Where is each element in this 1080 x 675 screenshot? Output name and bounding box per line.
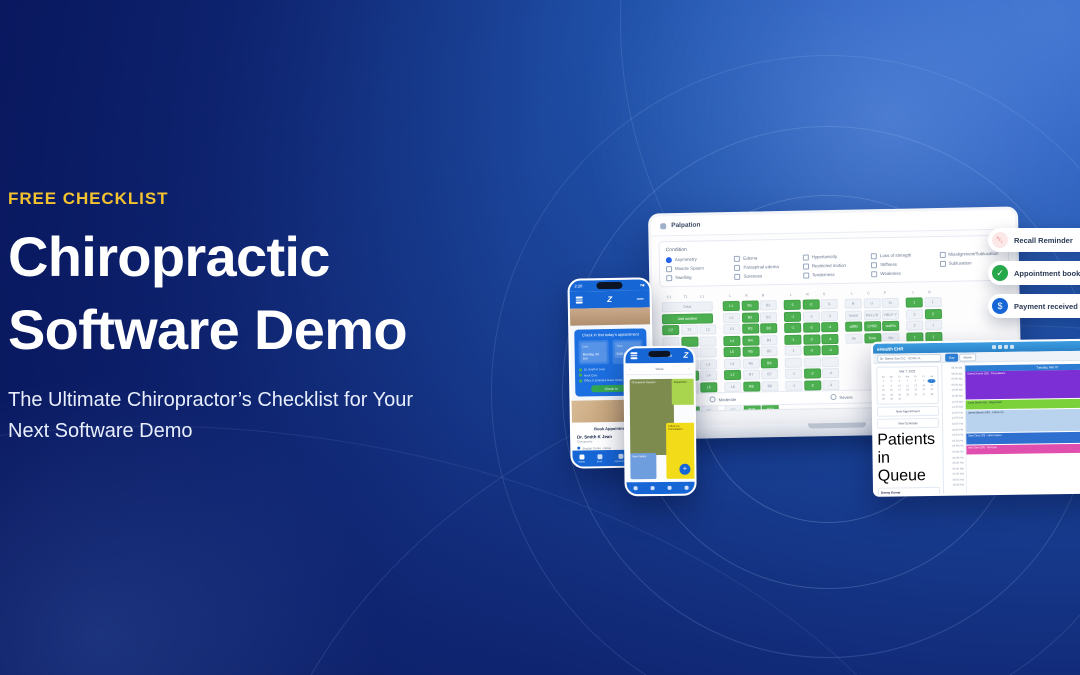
condition-card: Condition AsymmetryEdemaHypertonicityLos…: [659, 235, 1010, 287]
grid-cell[interactable]: -4: [822, 368, 839, 378]
calendar-range-label[interactable]: Week: [655, 366, 663, 370]
grid-cell[interactable]: Kk: [845, 333, 862, 343]
grid-cell[interactable]: R6: [742, 358, 759, 368]
calendar-day-cell[interactable]: 7: [928, 379, 936, 383]
dynamic-island: [596, 282, 622, 289]
grid-cell[interactable]: \1: [821, 299, 838, 309]
clear-link[interactable]: Clear: [662, 301, 713, 312]
sidebar-action-buttons: New AppointmentNew Schedule: [877, 406, 939, 429]
schedule-time-column: 08:00 AM08:30 AM09:00 AM09:30 AM10:00 AM…: [942, 363, 967, 497]
notification-icon[interactable]: [637, 298, 644, 299]
condition-option-label: Muscle Spasm: [675, 266, 704, 272]
checkbox-icon[interactable]: [940, 260, 946, 266]
ehr-app-name: eHealth EHR: [877, 346, 903, 351]
mini-calendar-days: SuMoTuWeThFrSa12345678910111213141516171…: [879, 374, 935, 401]
eyebrow-label: FREE CHECKLIST: [8, 190, 528, 207]
grid-cell[interactable]: atRN: [845, 321, 862, 331]
notification-pill[interactable]: ✓Appointment booked: [988, 261, 1080, 285]
calendar-day-cell[interactable]: 23: [888, 393, 896, 397]
ehr-toolbar-icons: [992, 345, 1014, 349]
condition-option[interactable]: Weakness: [871, 270, 934, 277]
grid-header-cell: R: [800, 290, 815, 298]
grid-row: -1-2\1: [784, 299, 838, 310]
brand-logo: Z: [607, 295, 612, 304]
grid-cell[interactable]: -1: [785, 369, 802, 379]
date-value: Monday, 09 Jun: [581, 350, 607, 362]
sidebar-action-button[interactable]: New Schedule: [877, 418, 939, 429]
grid-header-row: C1T1L1: [661, 292, 715, 301]
checkin-date-field: Date Monday, 09 Jun: [578, 340, 608, 365]
grid-header-cell: C1: [661, 293, 676, 301]
grid-cell[interactable]: watRn: [882, 321, 899, 331]
tablet-mockup: eHealth EHR New Patient Dr. Danny Sue D.…: [871, 338, 1080, 497]
bottom-nav-item[interactable]: Home: [578, 454, 585, 463]
grid-cell[interactable]: L5: [700, 382, 717, 392]
sidebar-action-button[interactable]: New Appointment: [877, 406, 939, 417]
grid-cell[interactable]: R3: [742, 323, 759, 333]
grid-header-cell: L: [722, 291, 737, 299]
calendar-day-cell[interactable]: 2: [888, 379, 896, 383]
grid-row: L5R5B5: [724, 346, 778, 357]
schedule-appointment-block[interactable]: Mia Chen (29) - Re-Eval: [966, 443, 1080, 454]
grid-cell[interactable]: -1: [785, 346, 802, 356]
phone-status-bar: 2:20 ▾■: [569, 279, 649, 291]
condition-option[interactable]: Loss of strength: [871, 252, 934, 259]
calendar-day-cell[interactable]: 28: [928, 392, 936, 396]
calendar-day-cell[interactable]: 8: [880, 384, 888, 388]
bell-icon-tablet[interactable]: [1010, 345, 1014, 349]
weekday-header: We: [904, 375, 912, 379]
checkin-bullet-label: Office 3, Emirates Road, Dubai: [584, 378, 623, 383]
check-icon: [579, 368, 582, 371]
grid-row: -1-2-4: [785, 379, 839, 390]
notification-label: Recall Reminder: [1014, 236, 1073, 245]
grid-cell[interactable]: B4: [760, 335, 777, 345]
condition-option[interactable]: Soreness: [735, 272, 798, 279]
grid-cell[interactable]: LPSR: [864, 321, 881, 331]
calendar-day-cell[interactable]: 12: [912, 384, 920, 388]
condition-option-label: Swelling: [675, 275, 691, 280]
grid-cell[interactable]: -1: [784, 334, 801, 344]
grid-header-row: 1R: [905, 287, 941, 296]
phone2-bottom-nav: [627, 482, 695, 495]
checkbox-icon[interactable]: [803, 272, 809, 278]
schedule-column: Tuesday, Mar 07 Danny Kumar (28) - Consu…: [965, 360, 1080, 497]
grid-cell[interactable]: -2: [804, 380, 821, 390]
grid-cell[interactable]: [785, 357, 802, 367]
condition-option[interactable]: Hypertonicity: [803, 253, 865, 260]
dollar-icon: $: [992, 298, 1008, 314]
subheadline-line-2: Next Software Demo: [8, 416, 528, 447]
grid-cell[interactable]: -1: [785, 380, 802, 390]
checkin-bullet-label: Neck Care: [584, 373, 597, 377]
grid-cell[interactable]: C2: [662, 325, 679, 335]
grid-cell[interactable]: -1: [784, 300, 801, 310]
grid-cell[interactable]: L2: [699, 324, 716, 334]
ehr-main-area: Mar 7, 2023 SuMoTuWeThFrSa12345678910111…: [873, 360, 1080, 497]
phone-hero-image: [570, 307, 650, 325]
phone-screen-calendar: Jun 09, 2025 Z ‹ Week › Chiropractic Ses…: [623, 346, 696, 497]
check-icon: [579, 379, 582, 382]
grid-cell[interactable]: L5: [724, 347, 741, 357]
phone-mockup-calendar: Jun 09, 2025 Z ‹ Week › Chiropractic Ses…: [623, 346, 696, 497]
add-another-button[interactable]: Add another: [662, 313, 713, 324]
provider-select[interactable]: Dr. Danny Sue D.C - 02 Mo st...: [877, 353, 941, 362]
laptop-app-title: Palpation: [671, 222, 700, 230]
calendar-day-cell[interactable]: 29: [880, 398, 888, 402]
grid-cell[interactable]: -2: [803, 334, 820, 344]
page-title: Chiropractic Software Demo: [8, 221, 528, 367]
calendar-day-cell[interactable]: 14: [928, 383, 936, 387]
vertebra-grid: LRBL1R1B1L2R2B2L3R3B3L4R4B4L5R5B5L6R6B6L…: [722, 291, 779, 429]
grid-cell[interactable]: L3: [700, 359, 717, 369]
nav-home-icon[interactable]: [633, 486, 637, 490]
calendar-day-cell[interactable]: 10: [896, 384, 904, 388]
nav-profile-icon[interactable]: [684, 486, 688, 490]
calendar-day-cell[interactable]: 18: [904, 388, 912, 392]
grid-cell[interactable]: -2: [802, 311, 819, 321]
nav-patients-icon[interactable]: [667, 486, 671, 490]
grid-row: L6R6B6: [724, 358, 778, 369]
notification-pill[interactable]: ␇Recall Reminder: [988, 228, 1080, 252]
grid-icon[interactable]: [992, 345, 996, 349]
checkbox-icon[interactable]: [871, 253, 877, 259]
calendar-day-cell[interactable]: 25: [904, 393, 912, 397]
calendar-next-button[interactable]: ›: [688, 366, 689, 370]
grid-cell[interactable]: 2: [906, 320, 923, 330]
checkbox-icon[interactable]: [735, 273, 741, 279]
condition-option-label: Soreness: [744, 273, 763, 278]
grid-row: 11: [906, 297, 942, 308]
grid-row: 32: [906, 308, 942, 319]
grid-cell[interactable]: -1: [784, 311, 801, 321]
checkbox-icon[interactable]: [734, 264, 740, 270]
grid-cell[interactable]: -2: [803, 368, 820, 378]
calendar-day-cell[interactable]: 30: [888, 397, 896, 401]
grid-cell[interactable]: L2: [723, 312, 740, 322]
phone2-app-bar: Jun 09, 2025 Z: [625, 348, 693, 364]
checkbox-icon[interactable]: [803, 254, 809, 260]
condition-option[interactable]: Asymmetry: [666, 256, 728, 263]
weekday-header: Sa: [928, 374, 936, 378]
view-segment-button[interactable]: Month: [959, 353, 975, 361]
grid-cell[interactable]: Sr: [882, 298, 899, 308]
grid-row: -1-2-4: [785, 345, 839, 356]
grid-header-cell: R: [739, 291, 754, 299]
grid-row: [785, 356, 839, 367]
checkbox-icon[interactable]: [939, 251, 945, 257]
grid-cell[interactable]: -4: [821, 322, 838, 332]
grid-cell[interactable]: T2: [681, 325, 698, 335]
schedule-appointments: Danny Kumar (28) - ConsultationLinda Smi…: [965, 369, 1080, 454]
notification-label: Appointment booked: [1014, 269, 1080, 278]
grid-cell[interactable]: 1: [906, 297, 923, 307]
nav-icon: [618, 454, 623, 459]
view-segment-button[interactable]: Day: [945, 353, 958, 361]
status-time: 2:20: [574, 283, 582, 288]
calendar-day-cell[interactable]: 1: [879, 380, 887, 384]
grid-row: L1R1B1: [723, 300, 777, 311]
grid-cell[interactable]: L3: [723, 324, 740, 334]
calendar-day-cell[interactable]: 11: [904, 384, 912, 388]
grid-cell[interactable]: B: [845, 298, 862, 308]
grid-header-cell: S: [816, 290, 831, 298]
grid-cell[interactable]: [700, 347, 717, 357]
checkbox-icon[interactable]: [871, 271, 877, 277]
calendar-event-block[interactable]: Adjustment: [672, 379, 696, 405]
condition-option-label: Asymmetry: [675, 257, 697, 262]
calendar-event-block[interactable]: New Patient: [630, 453, 656, 479]
grid-header-cell: L: [844, 289, 859, 297]
grid-cell[interactable]: 2: [924, 308, 941, 318]
grid-header-row: LRB: [722, 291, 776, 300]
notification-pill-stack: ␇Recall Reminder✓Appointment booked$Paym…: [988, 228, 1080, 327]
condition-option[interactable]: Restricted motion: [803, 262, 865, 269]
radio-icon[interactable]: [830, 394, 836, 400]
notification-pill[interactable]: $Payment received: [988, 294, 1080, 318]
radio-icon[interactable]: [710, 396, 716, 402]
grid-header-cell: C: [861, 289, 876, 297]
severity-option[interactable]: Severe: [830, 394, 852, 400]
condition-option[interactable]: Tenderness: [803, 271, 865, 278]
grid-cell[interactable]: -2: [803, 322, 820, 332]
check-circle-icon: ✓: [992, 265, 1008, 281]
grid-cell[interactable]: L7: [724, 370, 741, 380]
grid-row: NasalMid L/RHELP-7: [845, 309, 899, 320]
grid-cell[interactable]: -4: [821, 333, 838, 343]
condition-options: AsymmetryEdemaHypertonicityLoss of stren…: [666, 250, 1002, 280]
grid-cell[interactable]: Nasal: [845, 310, 862, 320]
grid-header-cell: B: [755, 291, 770, 299]
grid-cell[interactable]: B6: [761, 358, 778, 368]
grid-cell[interactable]: R2: [741, 312, 758, 322]
back-arrow-icon[interactable]: [660, 223, 666, 229]
hero-copy: FREE CHECKLIST Chiropractic Software Dem…: [8, 190, 528, 447]
grid-cell[interactable]: [699, 336, 716, 346]
condition-option-label: Hypertonicity: [812, 254, 837, 259]
notification-label: Payment received: [1014, 302, 1078, 311]
phone2-calendar-toolbar: ‹ Week ›: [625, 363, 693, 376]
bottom-nav-item[interactable]: Book: [597, 454, 603, 463]
hamburger-menu-icon[interactable]: [576, 297, 583, 303]
subheadline: The Ultimate Chiropractor’s Checklist fo…: [8, 385, 528, 447]
severity-option[interactable]: Moderate: [710, 396, 737, 403]
grid-cell[interactable]: B3: [760, 323, 777, 333]
grid-cell[interactable]: [803, 357, 820, 367]
grid-cell[interactable]: B5: [761, 346, 778, 356]
grid-row: -1-2-3: [784, 310, 838, 321]
view-segment-control: DayMonth: [945, 353, 976, 361]
condition-option-label: Restricted motion: [812, 263, 846, 269]
wifi-icon: ▾■: [640, 282, 645, 287]
grid-cell[interactable]: -4: [822, 379, 839, 389]
condition-option[interactable]: Edema: [734, 254, 797, 261]
grid-header-cell: L: [783, 290, 798, 298]
tablet-screen: eHealth EHR New Patient Dr. Danny Sue D.…: [871, 338, 1080, 497]
condition-option-label: Stiffness: [880, 262, 897, 267]
grid-row: atRNLPSRwatRn: [845, 321, 899, 332]
brand-logo-2: Z: [683, 351, 688, 360]
nav-icon: [597, 454, 602, 459]
mini-calendar[interactable]: Mar 7, 2023 SuMoTuWeThFrSa12345678910111…: [876, 366, 939, 405]
calendar-day-cell[interactable]: 27: [920, 393, 928, 397]
grid-row: L2R2B2: [723, 312, 777, 323]
grid-cell[interactable]: U: [863, 298, 880, 308]
queue-patient-item[interactable]: Danny KumarDr. Danny Sue D.C - 03 Ma09:3…: [878, 487, 940, 497]
calendar-day-cell[interactable]: 5: [912, 379, 920, 383]
add-event-fab[interactable]: +: [679, 464, 690, 475]
weekday-header: Fr: [920, 375, 928, 379]
grid-header-cell: L1: [694, 292, 709, 300]
checkbox-icon[interactable]: [803, 263, 809, 269]
mail-icon[interactable]: [1004, 345, 1008, 349]
calendar-prev-button[interactable]: ‹: [630, 367, 631, 371]
bottom-nav-label: Home: [579, 460, 585, 463]
calendar-day-cell[interactable]: 4: [904, 379, 912, 383]
grid-cell[interactable]: B1: [760, 300, 777, 310]
grid-row: -1-2-4: [784, 322, 838, 333]
calendar-day-cell[interactable]: 24: [896, 393, 904, 397]
radio-icon[interactable]: [666, 257, 672, 263]
severity-option-label: Severe: [839, 394, 852, 399]
calendar-day-cell[interactable]: 17: [896, 388, 904, 392]
calendar-day-cell[interactable]: 31: [896, 397, 904, 401]
grid-row: BUSr: [845, 298, 899, 309]
schedule-appointment-block[interactable]: Sara Ortiz (33) - New Patient: [966, 431, 1080, 444]
condition-option-label: Paraspinal edema: [743, 264, 778, 270]
patients-queue-list: Danny KumarDr. Danny Sue D.C - 03 Ma09:3…: [878, 487, 940, 497]
headline-line-2: Software Demo: [8, 294, 528, 367]
checkin-bullet-label: Dr. Smith K Jean: [584, 367, 605, 371]
grid-row: -1-2-4: [785, 368, 839, 379]
grid-cell[interactable]: [822, 356, 839, 366]
grid-cell[interactable]: -1: [784, 323, 801, 333]
patients-queue-header: Patients in Queue: [877, 431, 940, 486]
grid-row: 21: [906, 320, 942, 331]
phone-app-bar: Z: [570, 290, 650, 308]
grid-row: L8R8B8: [724, 381, 778, 392]
checkin-title: Check in first today’s appointment: [578, 332, 642, 337]
subheadline-line-1: The Ultimate Chiropractor’s Checklist fo…: [8, 385, 528, 416]
mini-calendar-month: Mar 7, 2023: [879, 369, 935, 374]
dynamic-island-2: [648, 351, 670, 357]
grid-cell[interactable]: 1: [925, 320, 942, 330]
condition-option-label: Subluxation: [949, 260, 972, 265]
grid-row: L7R7B7: [724, 369, 778, 380]
weekday-header: Mo: [887, 375, 895, 379]
grid-cell[interactable]: -2: [802, 299, 819, 309]
grid-header-row: LCF: [844, 288, 898, 297]
grid-cell[interactable]: -4: [822, 345, 839, 355]
calendar-day-cell[interactable]: 3: [896, 379, 904, 383]
grid-row: -1-2-4: [784, 333, 838, 344]
calendar-day-cell[interactable]: 26: [912, 393, 920, 397]
grid-cell[interactable]: L8: [724, 381, 741, 391]
condition-option-label: Tenderness: [812, 272, 835, 277]
grid-cell[interactable]: -3: [821, 310, 838, 320]
checkbox-icon[interactable]: [666, 275, 672, 281]
severity-option-label: Moderate: [719, 396, 737, 401]
bell-icon: ␇: [992, 232, 1008, 248]
schedule-time-label: 06:30 PM: [944, 483, 966, 489]
grid-cell[interactable]: L6: [724, 358, 741, 368]
checkbox-icon[interactable]: [734, 255, 740, 261]
schedule-appointment-block[interactable]: James Benton (36) - Follow Up: [966, 408, 1080, 432]
checkbox-icon[interactable]: [666, 266, 672, 272]
calendar-day-cell[interactable]: 13: [920, 384, 928, 388]
check-icon: [579, 374, 582, 377]
grid-cell[interactable]: HELP-7: [882, 309, 899, 319]
calendar-day-cell[interactable]: 6: [920, 379, 928, 383]
grid-cell[interactable]: 1: [924, 297, 941, 307]
grid-row: C2T2L2: [662, 324, 716, 335]
grid-header-cell: T1: [678, 292, 693, 300]
schedule-appointment-block[interactable]: Danny Kumar (28) - Consultation: [965, 369, 1080, 399]
checkbox-icon[interactable]: [871, 262, 877, 268]
condition-option[interactable]: Swelling: [666, 274, 728, 281]
condition-option[interactable]: Stiffness: [871, 261, 934, 268]
condition-option[interactable]: Muscle Spasm: [666, 265, 728, 272]
calendar-day-cell[interactable]: 15: [880, 389, 888, 393]
grid-cell[interactable]: R8: [743, 381, 760, 391]
hamburger-menu-icon-2[interactable]: [630, 353, 637, 359]
calendar-day-cell[interactable]: 16: [888, 388, 896, 392]
location-icon: [577, 447, 580, 450]
grid-cell[interactable]: L4: [700, 370, 717, 380]
grid-cell[interactable]: L1: [723, 301, 740, 311]
queue-patient-detail: Dr. Danny Sue D.C - 03 Ma: [881, 494, 937, 497]
grid-cell[interactable]: B7: [761, 369, 778, 379]
calendar-day-cell[interactable]: 19: [912, 388, 920, 392]
grid-cell[interactable]: L4: [723, 335, 740, 345]
schedule-appointment-block[interactable]: Linda Smith (41) - Adjustment: [966, 398, 1080, 409]
grid-cell[interactable]: Mid L/R: [863, 310, 880, 320]
calendar-day-cell[interactable]: 9: [888, 384, 896, 388]
weekday-header: Tu: [896, 375, 904, 379]
calendar-day-cell[interactable]: 20: [920, 388, 928, 392]
ehr-sidebar: Mar 7, 2023 SuMoTuWeThFrSa12345678910111…: [873, 363, 944, 497]
calendar-day-cell[interactable]: 21: [928, 388, 936, 392]
grid-row: L3R3B3: [723, 323, 777, 334]
headline-line-1: Chiropractic: [8, 221, 528, 294]
grid-header-cell: 1: [905, 288, 920, 296]
nav-calendar-icon[interactable]: [650, 486, 654, 490]
grid-cell[interactable]: B8: [761, 381, 778, 391]
condition-option-label: Loss of strength: [880, 253, 911, 259]
grid-row: L4R4B4: [723, 335, 777, 346]
grid-cell[interactable]: R5: [742, 346, 759, 356]
grid-header-cell: R: [922, 288, 937, 296]
grid-header-cell: F: [877, 288, 892, 296]
chart-icon[interactable]: [998, 345, 1002, 349]
calendar-day-cell[interactable]: 22: [880, 393, 888, 397]
weekday-header: Th: [912, 375, 920, 379]
grid-header-row: LRS: [783, 289, 837, 298]
nav-icon: [579, 454, 584, 459]
condition-option-label: Edema: [743, 255, 757, 260]
grid-cell[interactable]: R7: [742, 369, 759, 379]
grid-cell[interactable]: 3: [906, 309, 923, 319]
promo-banner: FREE CHECKLIST Chiropractic Software Dem…: [0, 0, 1080, 675]
bottom-nav-label: Book: [597, 460, 603, 463]
device-mockup-cluster: Palpation Condition AsymmetryEdemaHypert…: [540, 180, 1080, 520]
condition-option[interactable]: Paraspinal edema: [734, 263, 797, 270]
grid-cell[interactable]: -2: [803, 345, 820, 355]
grid-cell[interactable]: B2: [760, 312, 777, 322]
weekday-header: Su: [879, 375, 887, 379]
grid-cell[interactable]: R4: [742, 335, 759, 345]
grid-cell[interactable]: R1: [741, 300, 758, 310]
